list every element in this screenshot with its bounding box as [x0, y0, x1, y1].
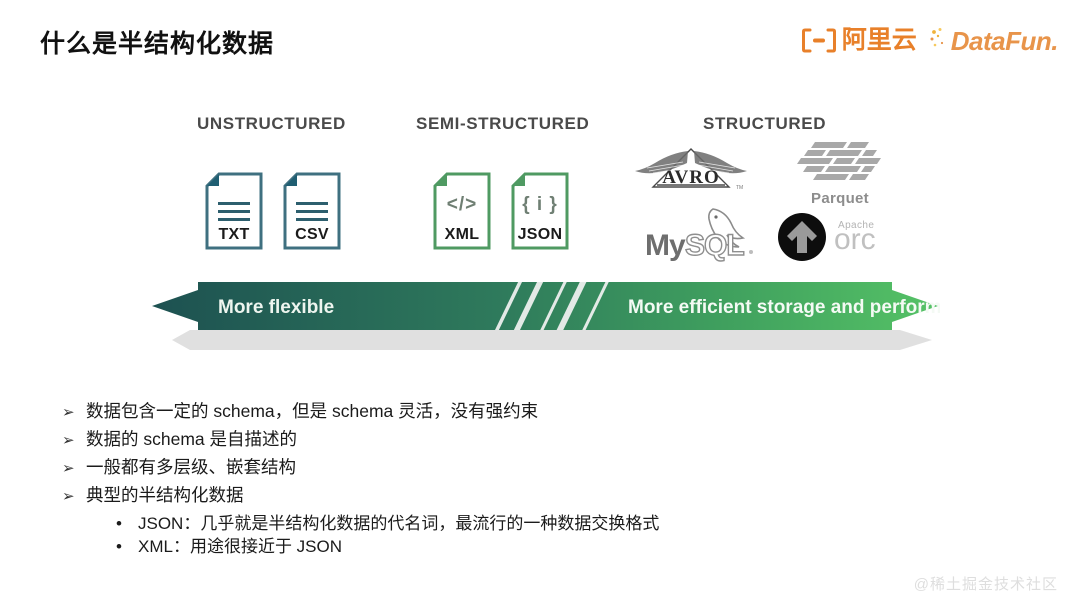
svg-text:SQL: SQL [685, 229, 744, 262]
mysql-logo-icon: My SQL [643, 205, 758, 263]
list-item: ➢ 一般都有多层级、嵌套结构 [62, 456, 1022, 480]
list-item: • XML：用途很接近于 JSON [116, 535, 1022, 558]
alibaba-cloud-logo: 阿里云 [802, 28, 917, 53]
file-icon-xml-glyph: </> [433, 194, 491, 216]
sub-bullet-list: • JSON：几乎就是半结构化数据的代名词，最流行的一种数据交换格式 • XML… [62, 512, 1022, 558]
file-icon-txt-label: TXT [205, 226, 263, 244]
bullet-text: 数据包含一定的 schema，但是 schema 灵活，没有强约束 [86, 400, 538, 422]
datafun-label: DataFun. [951, 28, 1058, 54]
svg-text:AVRO: AVRO [662, 167, 720, 188]
datafun-logo: DataFun. [929, 26, 1058, 55]
page-title: 什么是半结构化数据 [40, 24, 274, 60]
alibaba-cloud-mark-icon [802, 28, 836, 53]
list-item: • JSON：几乎就是半结构化数据的代名词，最流行的一种数据交换格式 [116, 512, 1022, 535]
file-icon-json-glyph: { i } [511, 194, 569, 216]
orc-logo-label: orc [834, 225, 876, 255]
bullet-text: 数据的 schema 是自描述的 [86, 428, 297, 450]
bullet-marker-icon: ➢ [62, 486, 86, 508]
bullet-marker-icon: ➢ [62, 458, 86, 480]
file-icon-xml-label: XML [433, 226, 491, 244]
sub-bullet-text: JSON：几乎就是半结构化数据的代名词，最流行的一种数据交换格式 [138, 512, 659, 535]
svg-text:TM: TM [736, 185, 743, 191]
parquet-logo-icon: Parquet [795, 140, 885, 202]
bullet-marker-icon: ➢ [62, 402, 86, 424]
branding-logos: 阿里云 DataFun. [802, 26, 1058, 55]
list-item: ➢ 数据包含一定的 schema，但是 schema 灵活，没有强约束 [62, 400, 1022, 424]
file-icon-txt: TXT [205, 172, 263, 250]
category-header-unstructured: UNSTRUCTURED [197, 114, 346, 134]
category-header-structured: STRUCTURED [703, 114, 826, 134]
bullet-text: 一般都有多层级、嵌套结构 [86, 456, 296, 478]
alibaba-cloud-label: 阿里云 [842, 28, 917, 53]
arrow-left-label: More flexible [218, 297, 334, 318]
sub-bullet-marker-icon: • [116, 512, 138, 535]
bullet-marker-icon: ➢ [62, 430, 86, 452]
datafun-dots-icon [929, 26, 949, 55]
svg-text:My: My [645, 229, 686, 262]
file-icon-csv: CSV [283, 172, 341, 250]
arrow-right-label: More efficient storage and performance [628, 297, 940, 318]
orc-logo-icon: Apache orc [777, 212, 912, 264]
category-header-semi-structured: SEMI-STRUCTURED [416, 114, 589, 134]
bullet-text: 典型的半结构化数据 [86, 484, 244, 506]
flexibility-performance-arrow: More flexible More efficient storage and… [150, 280, 940, 355]
sub-bullet-marker-icon: • [116, 535, 138, 558]
avro-logo-icon: AVRO TM [631, 141, 751, 197]
watermark: @稀土掘金技术社区 [914, 573, 1058, 594]
file-icon-json-label: JSON [511, 226, 569, 244]
file-icon-xml: </> XML [433, 172, 491, 250]
list-item: ➢ 典型的半结构化数据 [62, 484, 1022, 508]
bullet-list: ➢ 数据包含一定的 schema，但是 schema 灵活，没有强约束 ➢ 数据… [62, 400, 1022, 558]
file-icon-csv-label: CSV [283, 226, 341, 244]
parquet-logo-label: Parquet [795, 190, 885, 207]
list-item: ➢ 数据的 schema 是自描述的 [62, 428, 1022, 452]
sub-bullet-text: XML：用途很接近于 JSON [138, 535, 342, 558]
file-icon-json: { i } JSON [511, 172, 569, 250]
